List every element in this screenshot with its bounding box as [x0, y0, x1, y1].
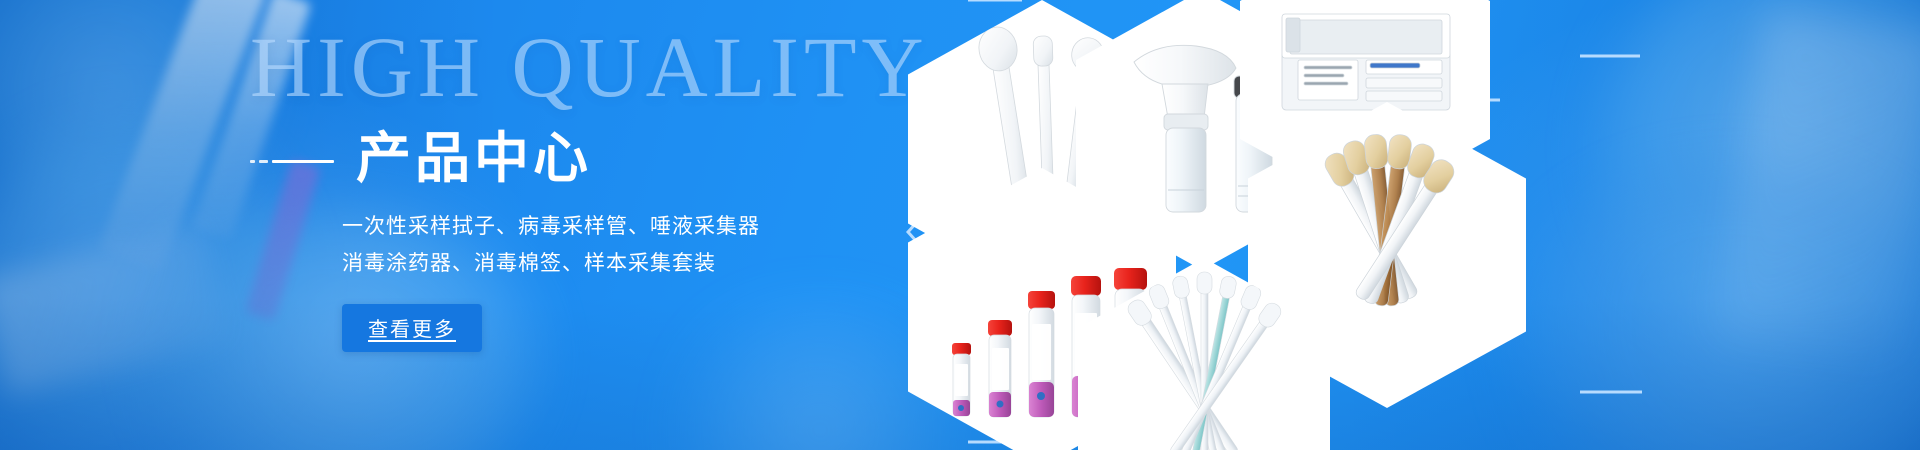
- blurred-highlight: [0, 224, 231, 396]
- banner-copy: HIGH QUALITY 产品中心 一次性采样拭子、病毒采样管、唾液采集器 消毒…: [250, 22, 890, 352]
- product-center-banner: HIGH QUALITY 产品中心 一次性采样拭子、病毒采样管、唾液采集器 消毒…: [0, 0, 1920, 450]
- product-hexagon-cluster: [880, 0, 1920, 450]
- title-decoration-icon: [250, 160, 334, 163]
- page-title: 产品中心: [356, 128, 592, 189]
- view-more-label: 查看更多: [368, 319, 456, 341]
- headline-row: 产品中心: [250, 128, 890, 189]
- headline-english: HIGH QUALITY: [250, 22, 890, 112]
- subtitle-line-2: 消毒涂药器、消毒棉签、样本采集套装: [342, 246, 890, 282]
- blurred-glove-shape: [0, 0, 270, 210]
- view-more-button[interactable]: 查看更多: [342, 304, 482, 352]
- blurred-test-tube: [98, 0, 267, 272]
- subtitle-line-1: 一次性采样拭子、病毒采样管、唾液采集器: [342, 209, 890, 245]
